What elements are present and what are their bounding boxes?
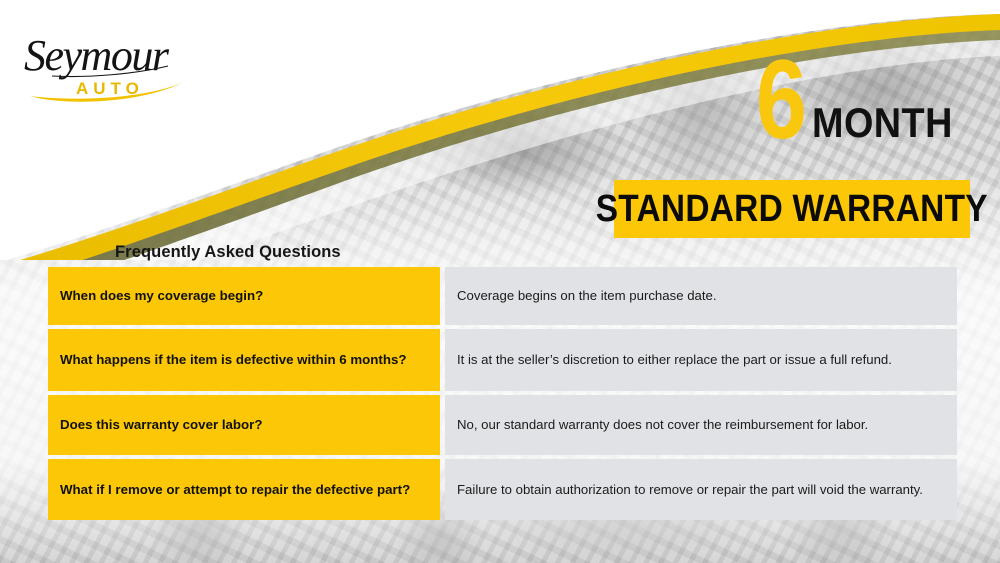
faq-answer-cell: No, our standard warranty does not cover… <box>445 395 957 455</box>
faq-table: When does my coverage begin? Coverage be… <box>48 267 957 520</box>
duration-unit: MONTH <box>812 102 953 148</box>
warranty-headline: 6 MONTH STANDARD WARRANTY <box>550 52 970 242</box>
faq-question-cell: What if I remove or attempt to repair th… <box>48 459 440 520</box>
logo-auto-text: AUTO <box>76 79 144 98</box>
faq-question-cell: Does this warranty cover labor? <box>48 395 440 455</box>
faq-answer-cell: Failure to obtain authorization to remov… <box>445 459 957 520</box>
duration-row: 6 MONTH <box>745 52 968 148</box>
faq-question-cell: What happens if the item is defective wi… <box>48 329 440 391</box>
duration-number: 6 <box>756 52 805 148</box>
faq-heading: Frequently Asked Questions <box>115 243 341 262</box>
faq-question-cell: When does my coverage begin? <box>48 267 440 325</box>
logo-script-text: Seymour <box>24 31 170 80</box>
seymour-auto-logo: Seymour AUTO <box>18 18 208 113</box>
faq-answer-cell: Coverage begins on the item purchase dat… <box>445 267 957 325</box>
table-row: What happens if the item is defective wi… <box>48 329 957 391</box>
faq-answer-cell: It is at the seller’s discretion to eith… <box>445 329 957 391</box>
faq-answer-text: It is at the seller’s discretion to eith… <box>457 351 892 368</box>
table-row: What if I remove or attempt to repair th… <box>48 459 957 520</box>
table-row: Does this warranty cover labor? No, our … <box>48 395 957 455</box>
standard-warranty-banner: STANDARD WARRANTY <box>614 180 970 238</box>
faq-answer-text: Coverage begins on the item purchase dat… <box>457 287 717 304</box>
warranty-slide: Seymour AUTO 6 MONTH STANDARD WARRANTY F… <box>0 0 1000 563</box>
standard-warranty-label: STANDARD WARRANTY <box>596 188 988 231</box>
faq-question-text: What if I remove or attempt to repair th… <box>60 481 410 498</box>
faq-answer-text: No, our standard warranty does not cover… <box>457 416 868 433</box>
faq-question-text: What happens if the item is defective wi… <box>60 351 407 368</box>
faq-question-text: When does my coverage begin? <box>60 287 263 304</box>
faq-answer-text: Failure to obtain authorization to remov… <box>457 481 923 498</box>
faq-question-text: Does this warranty cover labor? <box>60 416 262 433</box>
table-row: When does my coverage begin? Coverage be… <box>48 267 957 325</box>
